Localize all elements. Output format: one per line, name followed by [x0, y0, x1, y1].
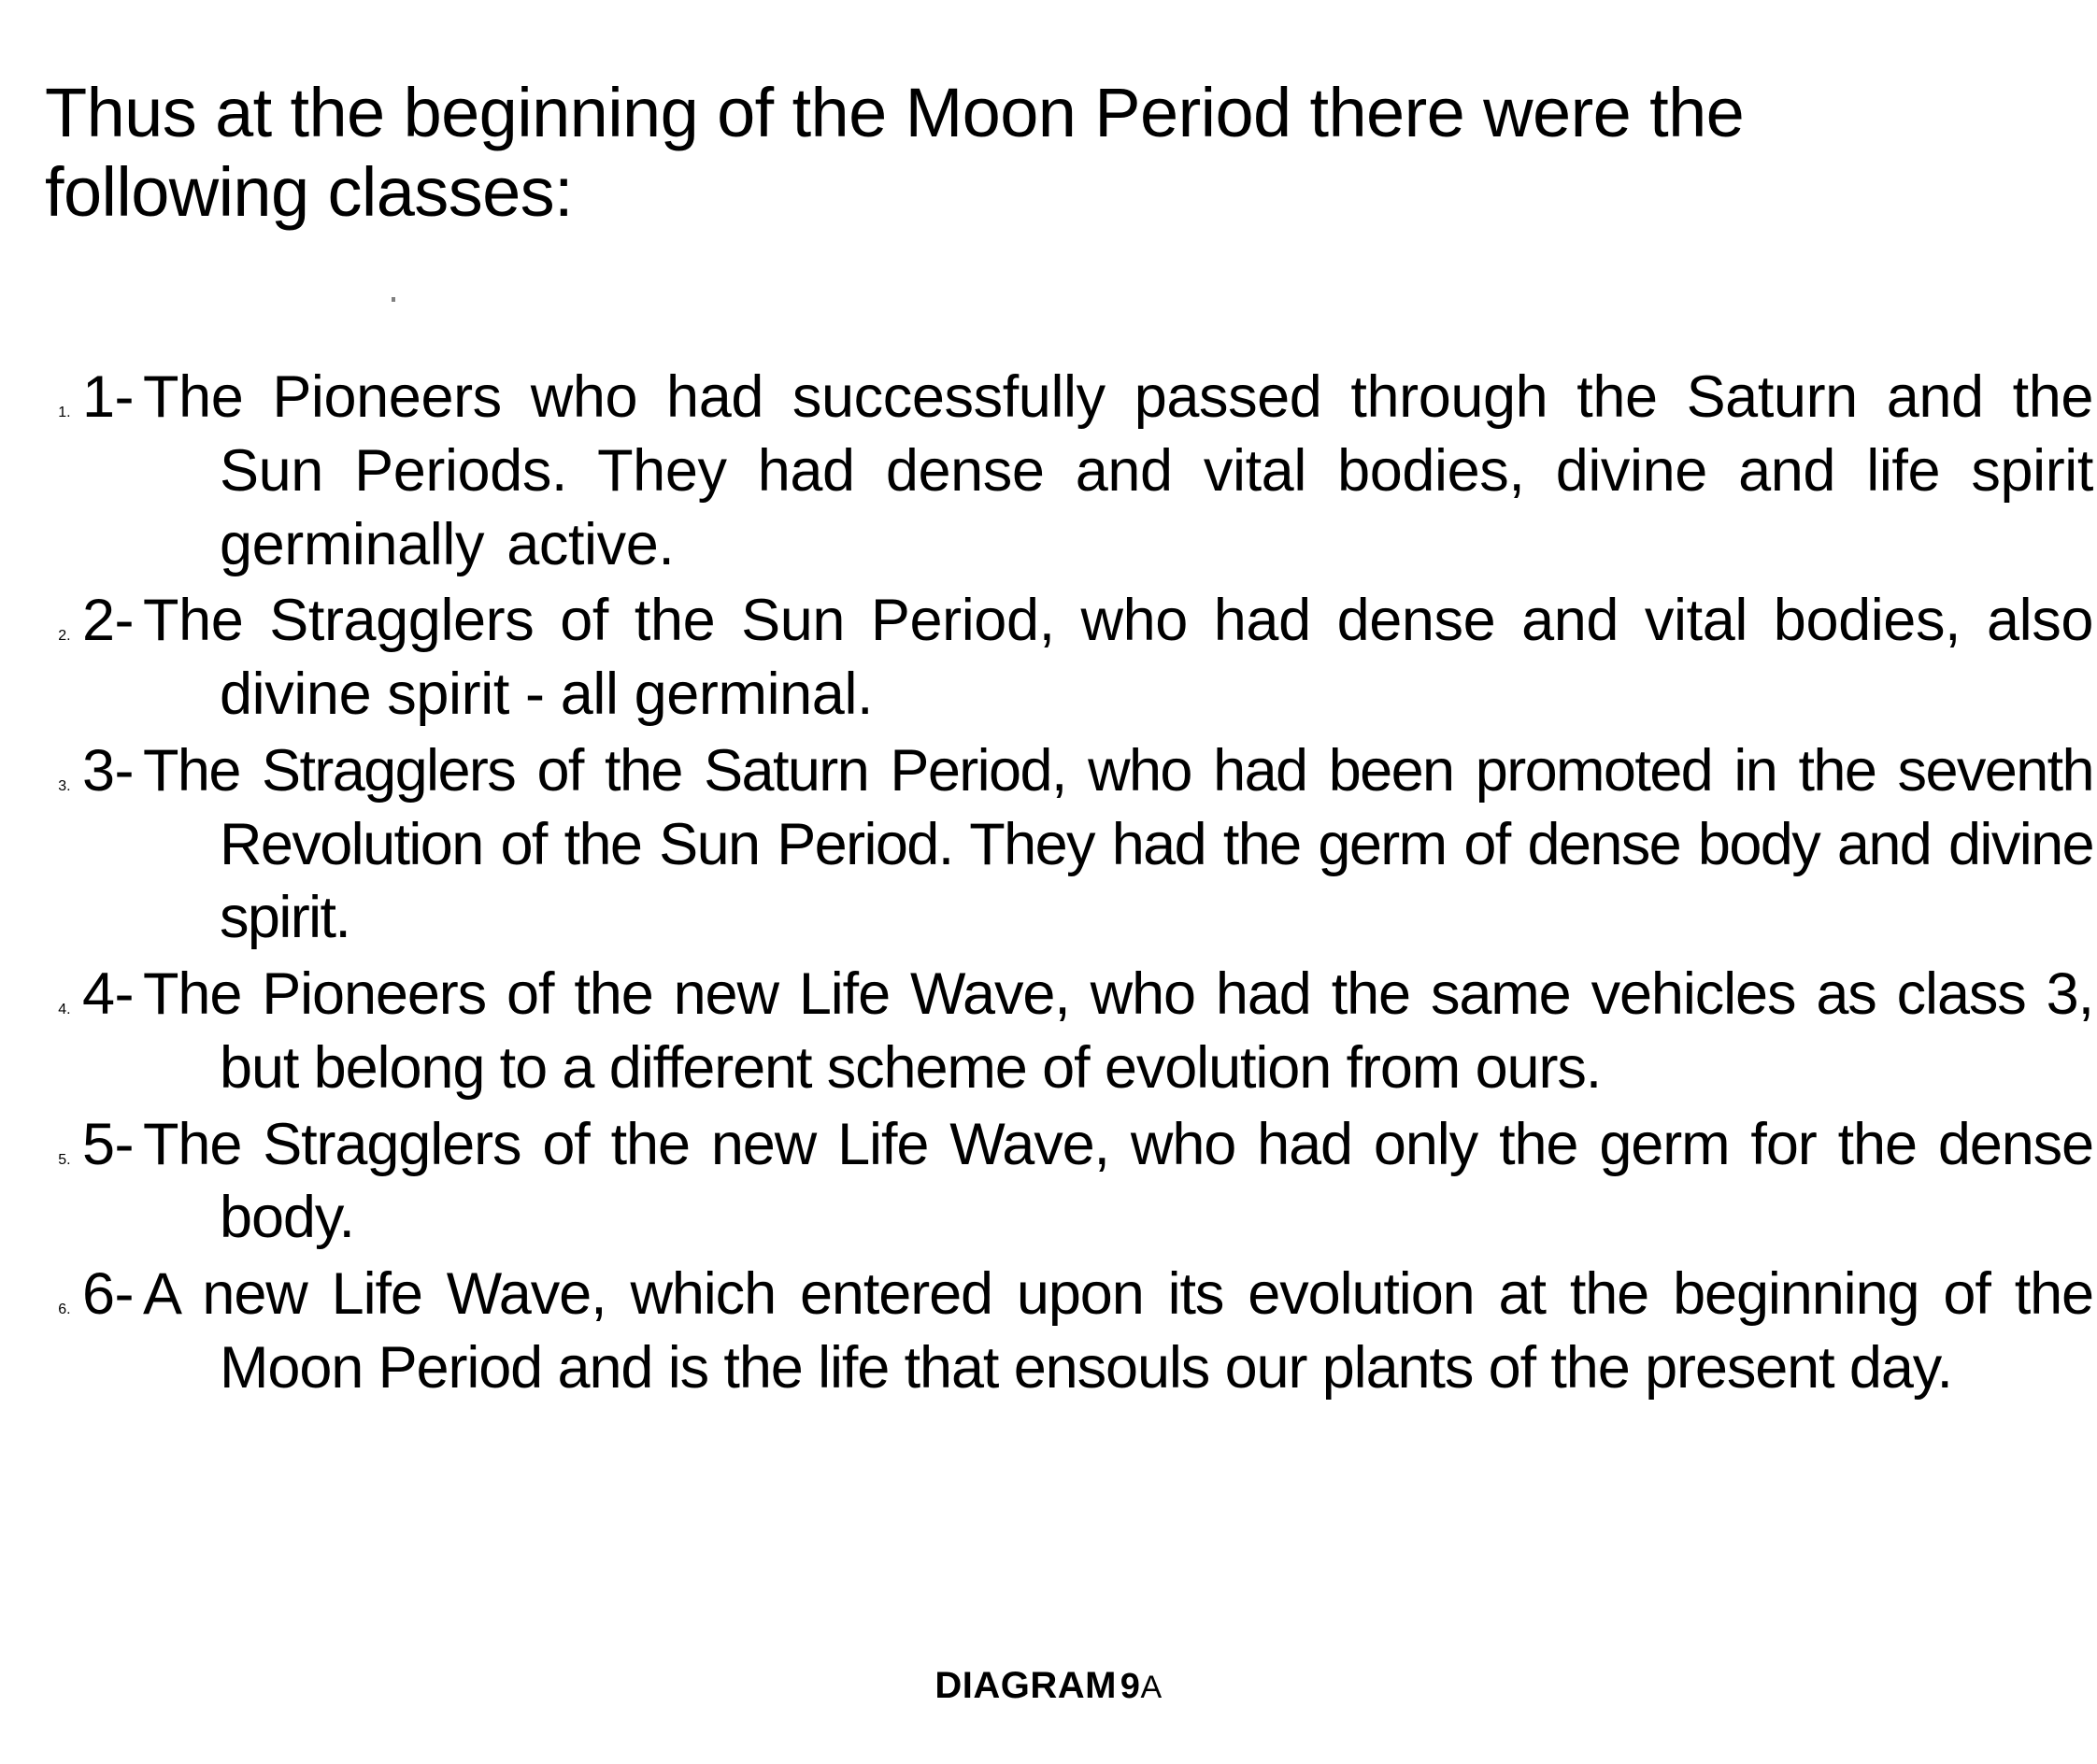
page-heading: Thus at the beginning of the Moon Period…	[45, 73, 2054, 234]
diagram-caption: DIAGRAM 9A	[0, 1665, 2097, 1707]
list-item: 6- A new Life Wave, which entered upon i…	[75, 1258, 2093, 1405]
list-item-marker: 3-	[82, 734, 166, 808]
numbered-class-list: 1- The Pioneers who had successfully pas…	[37, 361, 2093, 1408]
document-page: Thus at the beginning of the Moon Period…	[0, 0, 2097, 1764]
list-item: 2- The Stragglers of the Sun Period, who…	[75, 584, 2093, 732]
list-item-marker: 1-	[82, 361, 166, 434]
list-item-text: The Stragglers of the Sun Period, who ha…	[220, 584, 2093, 732]
list-item-text: The Stragglers of the new Life Wave, who…	[220, 1108, 2093, 1256]
list-item: 3- The Stragglers of the Saturn Period, …	[75, 734, 2093, 955]
diagram-caption-number: 9	[1120, 1667, 1141, 1706]
list-item: 4- The Pioneers of the new Life Wave, wh…	[75, 958, 2093, 1105]
list-item-marker: 6-	[82, 1258, 166, 1331]
list-item-text: A new Life Wave, which entered upon its …	[220, 1258, 2093, 1405]
list-item-text: The Pioneers of the new Life Wave, who h…	[220, 958, 2093, 1105]
list-item-marker: 5-	[82, 1108, 166, 1182]
list-item-text: The Stragglers of the Saturn Period, who…	[220, 734, 2093, 955]
diagram-caption-suffix: A	[1140, 1670, 1162, 1705]
scan-speck-artifact	[392, 297, 395, 302]
list-item-text: The Pioneers who had successfully passed…	[220, 361, 2093, 581]
list-item-marker: 2-	[82, 584, 166, 658]
list-item-marker: 4-	[82, 958, 166, 1031]
diagram-caption-label: DIAGRAM	[934, 1665, 1117, 1706]
list-item: 5- The Stragglers of the new Life Wave, …	[75, 1108, 2093, 1256]
list-item: 1- The Pioneers who had successfully pas…	[75, 361, 2093, 581]
